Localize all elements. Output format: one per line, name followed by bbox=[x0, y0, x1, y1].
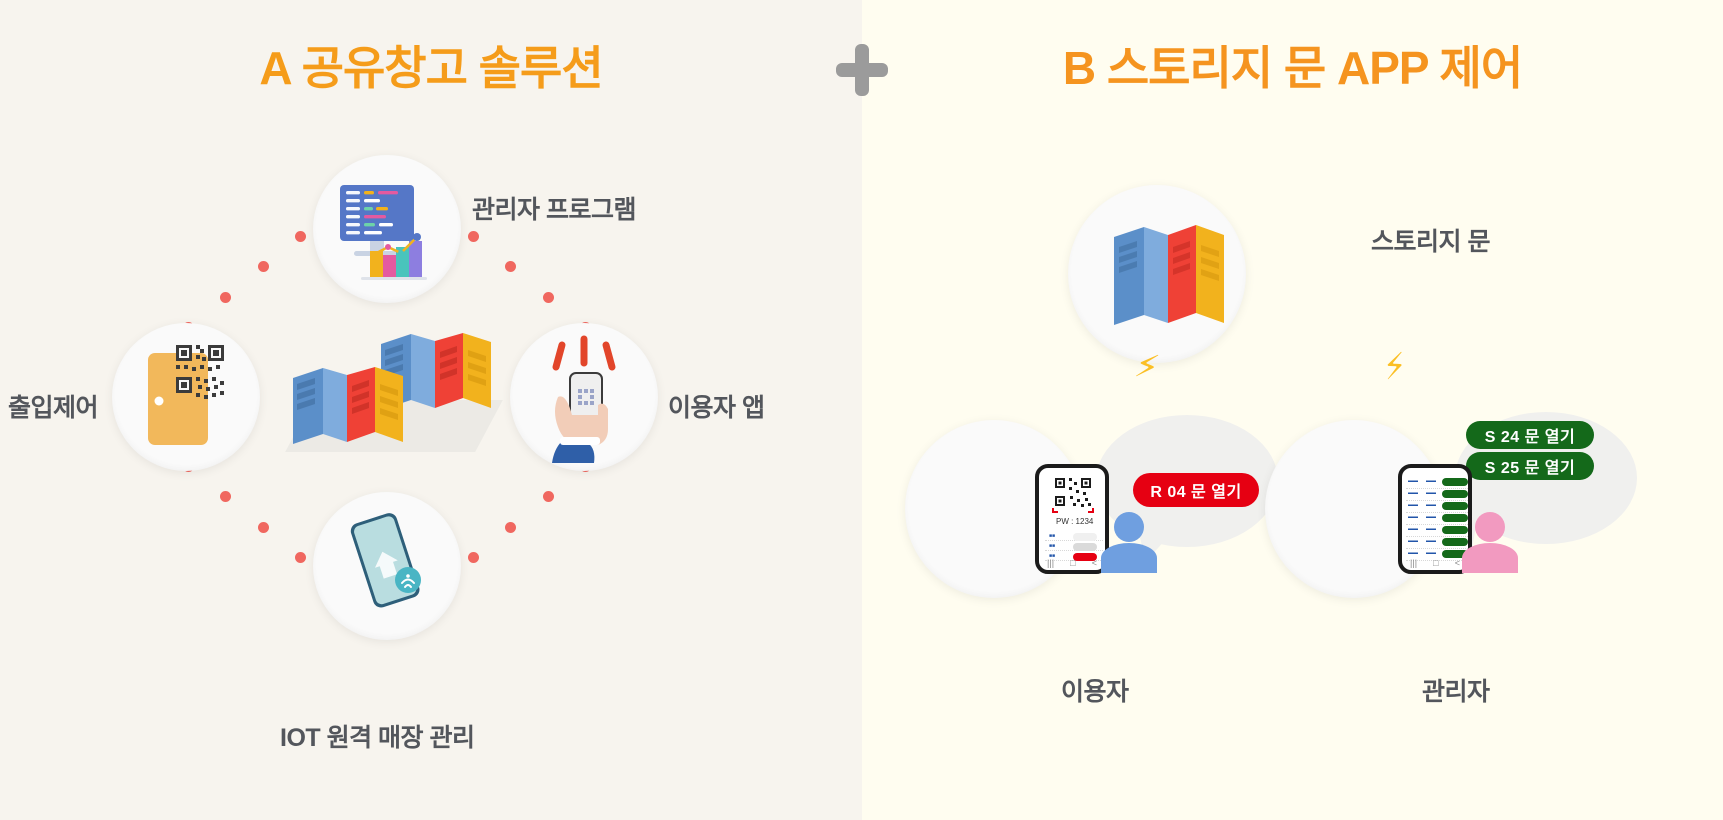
hand-phone-icon bbox=[510, 323, 658, 471]
ring-dot bbox=[468, 231, 479, 242]
node-access-control[interactable] bbox=[112, 323, 260, 471]
desktop-chart-icon bbox=[313, 155, 461, 303]
ring-dot bbox=[258, 522, 269, 533]
ring-dot bbox=[220, 491, 231, 502]
admin-row-open-button[interactable] bbox=[1442, 490, 1468, 498]
admin-row-label: ▬▬ bbox=[1408, 490, 1418, 496]
admin-row-divider bbox=[1406, 488, 1468, 489]
admin-row-code: ▬▬ bbox=[1426, 514, 1436, 520]
node-storage-door[interactable] bbox=[1068, 185, 1246, 363]
admin-row-label: ▬▬ bbox=[1408, 514, 1418, 520]
admin-row-divider bbox=[1406, 512, 1468, 513]
smart-phone-wifi-icon bbox=[313, 492, 461, 640]
node-iot-remote[interactable] bbox=[313, 492, 461, 640]
admin-row-divider bbox=[1406, 524, 1468, 525]
door-qr-icon bbox=[112, 323, 260, 471]
node-admin-program[interactable] bbox=[313, 155, 461, 303]
ring-dot bbox=[468, 552, 479, 563]
panel-b-title: B 스토리지 문 APP 제어 bbox=[862, 32, 1723, 98]
admin-row-label: ▬▬ bbox=[1408, 538, 1418, 544]
ring-dot bbox=[505, 522, 516, 533]
row-pill bbox=[1073, 543, 1097, 551]
admin-row-label: ▬▬ bbox=[1408, 502, 1418, 508]
ring-dot bbox=[505, 261, 516, 272]
avatar-admin-body bbox=[1462, 543, 1518, 573]
storage-lockers-icon bbox=[285, 330, 495, 460]
admin-row-code: ▬▬ bbox=[1426, 478, 1436, 484]
node-user-app[interactable] bbox=[510, 323, 658, 471]
admin-row-divider bbox=[1406, 548, 1468, 549]
admin-row-divider bbox=[1406, 536, 1468, 537]
infographic-stage: A 공유창고 솔루션 bbox=[0, 0, 1723, 820]
badge-s24-open[interactable]: S 24 문 열기 bbox=[1466, 421, 1594, 449]
ring-dot bbox=[295, 231, 306, 242]
phone-nav-bar: |||□< bbox=[1039, 555, 1105, 570]
avatar-user-body bbox=[1101, 543, 1157, 573]
node-label-admin: 관리자 bbox=[1422, 672, 1490, 708]
admin-row-code: ▬▬ bbox=[1426, 526, 1436, 532]
badge-s25-open[interactable]: S 25 문 열기 bbox=[1466, 452, 1594, 480]
panel-a-shared-warehouse: A 공유창고 솔루션 bbox=[0, 0, 862, 820]
plus-icon bbox=[836, 44, 888, 96]
admin-row-label: ▬▬ bbox=[1408, 478, 1418, 484]
ring-dot bbox=[220, 292, 231, 303]
admin-row-open-button[interactable] bbox=[1442, 478, 1468, 486]
qr-code-icon bbox=[1043, 474, 1109, 518]
node-label-admin-program: 관리자 프로그램 bbox=[472, 190, 636, 226]
node-label-iot-remote: IOT 원격 매장 관리 bbox=[280, 718, 475, 754]
admin-phone[interactable]: ▬▬▬▬▬▬▬▬▬▬▬▬▬▬▬▬▬▬▬▬▬▬▬▬▬▬▬▬ |||□< bbox=[1398, 464, 1472, 574]
row-text: ■■ bbox=[1049, 543, 1055, 549]
panel-a-title: A 공유창고 솔루션 bbox=[0, 32, 862, 98]
node-label-user: 이용자 bbox=[1061, 672, 1129, 708]
avatar-admin-head bbox=[1475, 512, 1505, 542]
admin-row-open-button[interactable] bbox=[1442, 538, 1468, 546]
admin-row-divider bbox=[1406, 500, 1468, 501]
admin-row-code: ▬▬ bbox=[1426, 490, 1436, 496]
admin-row-code: ▬▬ bbox=[1426, 502, 1436, 508]
panel-b-storage-door-app: B 스토리지 문 APP 제어 bbox=[862, 0, 1723, 820]
phone-nav-bar: |||□< bbox=[1402, 555, 1468, 570]
admin-row-open-button[interactable] bbox=[1442, 526, 1468, 534]
admin-row-open-button[interactable] bbox=[1442, 502, 1468, 510]
ring-dot bbox=[543, 491, 554, 502]
admin-row-code: ▬▬ bbox=[1426, 538, 1436, 544]
ring-dot bbox=[258, 261, 269, 272]
avatar-user-head bbox=[1114, 512, 1144, 542]
row-text: ■■ bbox=[1049, 533, 1055, 539]
admin-row-open-button[interactable] bbox=[1442, 514, 1468, 522]
node-label-user-app: 이용자 앱 bbox=[668, 388, 764, 424]
user-phone[interactable]: PW : 1234 ■■ ■■ ■■ |||□< bbox=[1035, 464, 1109, 574]
ring-dot bbox=[543, 292, 554, 303]
storage-lockers-icon bbox=[1068, 185, 1246, 363]
node-label-storage-door: 스토리지 문 bbox=[1371, 222, 1490, 258]
node-label-access-control: 출입제어 bbox=[8, 388, 98, 424]
badge-r04-open[interactable]: R 04 문 열기 bbox=[1133, 473, 1259, 507]
admin-row-label: ▬▬ bbox=[1408, 526, 1418, 532]
row-pill bbox=[1073, 533, 1097, 541]
ring-dot bbox=[295, 552, 306, 563]
user-phone-password: PW : 1234 bbox=[1056, 517, 1093, 526]
